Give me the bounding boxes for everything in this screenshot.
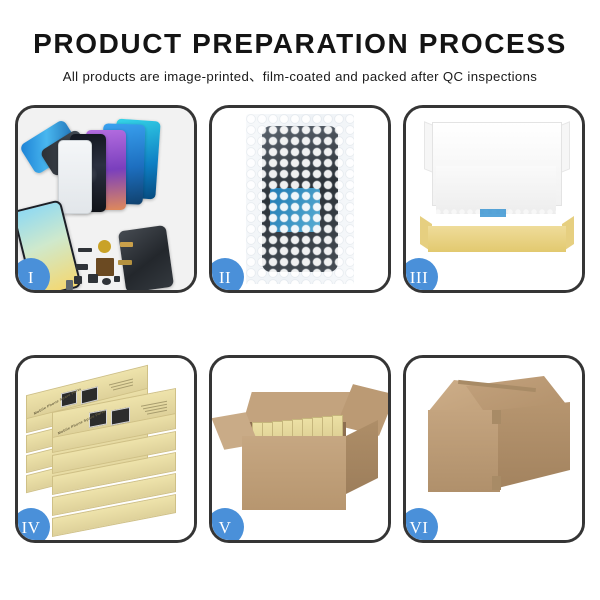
step-badge-3: III xyxy=(406,258,438,290)
glass-panel-icon xyxy=(58,140,92,214)
sealed-carton-right-icon xyxy=(498,402,570,488)
step-panel-4: Mobile Phone Spare Parts Mobile Phone Sp… xyxy=(15,355,197,543)
part-small-chip-icon xyxy=(114,276,120,282)
item-blue-accent-icon xyxy=(480,209,506,217)
step-badge-4: IV xyxy=(18,508,50,540)
step-panel-1: I xyxy=(15,105,197,293)
step-6-image: VI xyxy=(406,358,582,540)
step-2-image: II xyxy=(212,108,388,290)
part-sim-tray-icon xyxy=(66,280,73,290)
sealing-tape-front-lower-icon xyxy=(492,476,501,490)
page-title: PRODUCT PREPARATION PROCESS xyxy=(0,30,600,58)
step-1-image: I xyxy=(18,108,194,290)
bubble-texture-overlay xyxy=(246,114,354,284)
page-header: PRODUCT PREPARATION PROCESS All products… xyxy=(0,0,600,83)
sealed-carton-front-icon xyxy=(428,410,500,492)
step-4-image: Mobile Phone Spare Parts Mobile Phone Sp… xyxy=(18,358,194,540)
part-flex-cable-icon xyxy=(120,242,133,247)
step-panel-5: V xyxy=(209,355,391,543)
step-badge-2: II xyxy=(212,258,244,290)
part-screw-plate-icon xyxy=(74,276,82,284)
mailer-back-wall-icon xyxy=(436,166,556,214)
carton-side-panel-icon xyxy=(346,420,378,494)
part-bracket-icon xyxy=(76,264,88,270)
step-3-image: III xyxy=(406,108,582,290)
step-panel-6: VI xyxy=(403,355,585,543)
step-badge-5: V xyxy=(212,508,244,540)
kraft-base-icon xyxy=(428,226,566,252)
step-panel-2: II xyxy=(209,105,391,293)
part-flex-cable-2-icon xyxy=(118,260,132,265)
page-subtitle: All products are image-printed、film-coat… xyxy=(0,70,600,83)
process-step-grid: I II III xyxy=(0,105,600,543)
phone-housing-icon xyxy=(118,225,174,290)
part-speaker-icon xyxy=(98,240,111,253)
lid-chip-b-icon xyxy=(81,386,98,404)
part-grid-icon xyxy=(96,258,114,276)
part-camera-icon xyxy=(88,274,98,283)
part-connector-icon xyxy=(78,248,92,252)
step-5-image: V xyxy=(212,358,388,540)
part-button-icon xyxy=(102,278,111,285)
step-badge-6: VI xyxy=(406,508,438,540)
front-lid-chip-b-icon xyxy=(111,407,130,426)
carton-front-panel-icon xyxy=(242,436,346,510)
step-panel-3: III xyxy=(403,105,585,293)
sealing-tape-front-upper-icon xyxy=(492,410,501,424)
